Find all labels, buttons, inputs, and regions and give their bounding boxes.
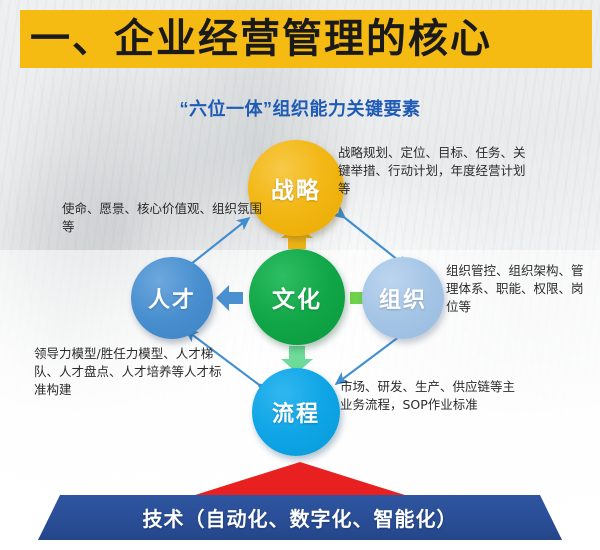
node-organization[interactable]: 组织 xyxy=(362,257,444,339)
subtitle: “六位一体”组织能力关键要素 xyxy=(0,95,600,121)
page-title: 一、企业经营管理的核心 xyxy=(20,19,492,59)
arrow-left-to-talent-icon xyxy=(215,282,245,314)
node-process[interactable]: 流程 xyxy=(252,368,340,456)
description-culture: 使命、愿景、核心价值观、组织氛围等 xyxy=(62,200,262,236)
description-organization: 组织管控、组织架构、管理体系、职能、权限、岗位等 xyxy=(446,262,590,315)
node-organization-label: 组织 xyxy=(379,282,427,314)
node-talent[interactable]: 人才 xyxy=(131,257,213,339)
description-talent: 领导力模型/胜任力模型、人才梯队、人才盘点、人才培养等人才标准构建 xyxy=(34,345,232,398)
node-process-label: 流程 xyxy=(272,396,320,428)
description-process: 市场、研发、生产、供应链等主业务流程，SOP作业标准 xyxy=(340,378,520,414)
node-culture-label: 文化 xyxy=(272,280,322,314)
description-strategy: 战略规划、定位、目标、任务、关键举措、行动计划，年度经营计划等 xyxy=(338,144,526,197)
node-strategy[interactable]: 战略 xyxy=(248,140,344,236)
node-culture[interactable]: 文化 xyxy=(249,249,345,345)
technology-banner-label: 技术（自动化、数字化、智能化） xyxy=(143,503,458,532)
slide-canvas: 一、企业经营管理的核心 “六位一体”组织能力关键要素 xyxy=(0,0,600,550)
technology-banner: 技术（自动化、数字化、智能化） xyxy=(38,495,562,540)
node-talent-label: 人才 xyxy=(148,282,196,314)
title-banner: 一、企业经营管理的核心 xyxy=(20,10,592,68)
red-up-arrow-icon xyxy=(190,462,410,498)
node-strategy-label: 战略 xyxy=(271,171,321,205)
